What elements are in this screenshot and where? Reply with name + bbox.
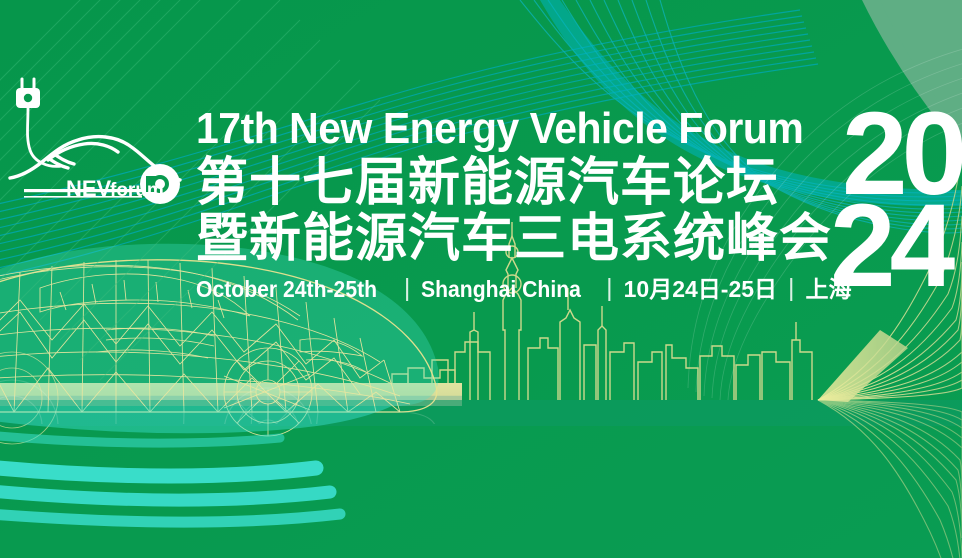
date-chinese: 10月24日-25日 <box>624 275 777 303</box>
location-chinese: 上海 <box>806 275 852 303</box>
separator-2: | <box>595 274 624 302</box>
separator-3: | <box>777 274 806 302</box>
title-chinese-line2: 暨新能源汽车三电系统峰会 <box>196 210 856 268</box>
title-chinese-line1: 第十七届新能源汽车论坛 <box>196 154 856 212</box>
event-details: October 24th-25th | Shanghai China | 10月… <box>196 275 856 303</box>
title-english: 17th New Energy Vehicle Forum <box>196 104 810 154</box>
logo-brand-light: forum <box>110 180 164 201</box>
date-english: October 24th-25th <box>196 275 377 303</box>
location-english: Shanghai China <box>421 275 581 303</box>
headline-block: 17th New Energy Vehicle Forum 第十七届新能源汽车论… <box>196 104 856 303</box>
logo-brand-bold: NEV <box>66 176 112 201</box>
event-banner: NEV forum 20 24 17th New Energy Vehicle … <box>0 0 962 558</box>
nevforum-logo[interactable]: NEV forum <box>4 72 190 220</box>
separator-1: | <box>393 274 422 302</box>
